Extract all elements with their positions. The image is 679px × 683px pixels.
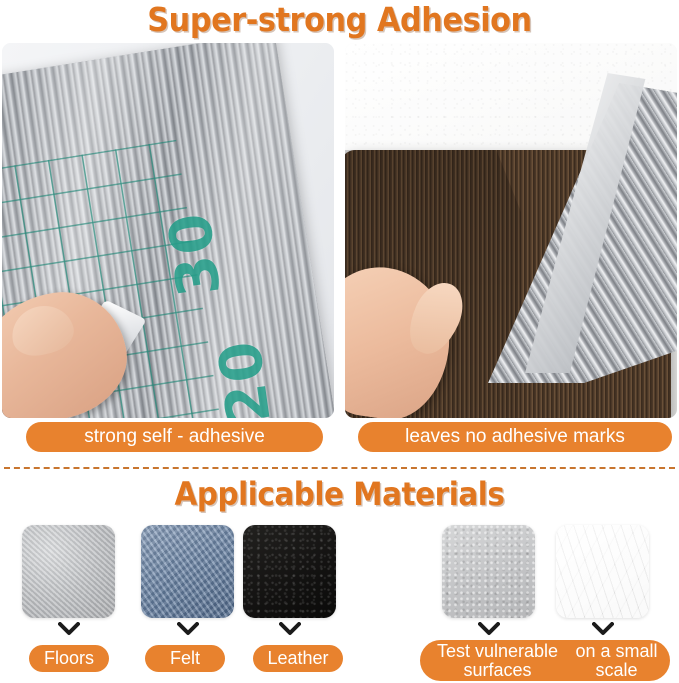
material-label-floors: Floors	[29, 645, 109, 672]
material-swatch-floors	[22, 525, 115, 618]
material-label-felt: Felt	[145, 645, 225, 672]
chevron-down-icon	[592, 622, 614, 636]
warning-label-test-small-scale: Test vulnerable surfaces on a small scal…	[420, 640, 670, 681]
page-title-adhesion: Super-strong Adhesion	[27, 2, 652, 38]
chevron-down-icon	[279, 622, 301, 636]
material-swatch-felt	[141, 525, 234, 618]
material-swatch-paper	[556, 525, 649, 618]
measurement-mark-20: 20	[210, 336, 279, 418]
section-divider	[4, 467, 675, 469]
measurement-mark-30: 30	[160, 208, 229, 300]
carpet-peel-no-residue-photo	[345, 43, 677, 418]
page-title-materials: Applicable Materials	[27, 477, 652, 512]
chevron-down-icon	[58, 622, 80, 636]
warning-line-2: on a small scale	[569, 642, 664, 680]
self-adhesive-foil-tape-photo: 30 20	[2, 43, 334, 418]
chevron-down-icon	[478, 622, 500, 636]
material-swatch-stucco	[442, 525, 535, 618]
chevron-down-icon	[177, 622, 199, 636]
caption-leaves-no-marks: leaves no adhesive marks	[358, 422, 672, 452]
caption-strong-self-adhesive: strong self - adhesive	[26, 422, 323, 452]
material-label-leather: Leather	[253, 645, 343, 672]
material-swatch-leather	[243, 525, 336, 618]
warning-line-1: Test vulnerable surfaces	[426, 642, 569, 680]
